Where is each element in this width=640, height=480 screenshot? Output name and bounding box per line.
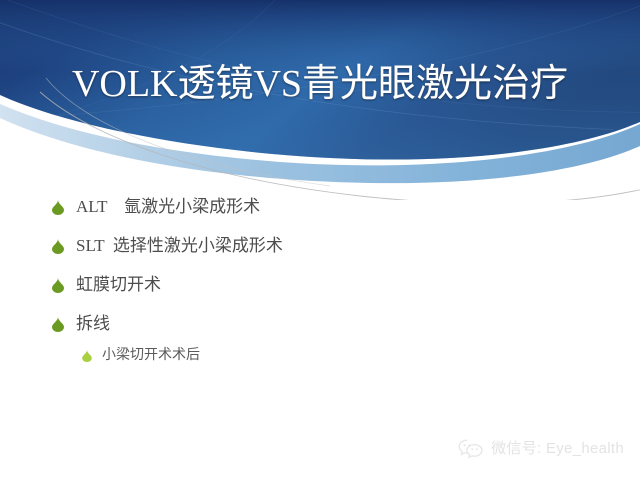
list-item-label: 虹膜切开术 bbox=[76, 274, 161, 296]
list-item-label: 小梁切开术术后 bbox=[102, 346, 200, 365]
page-title: VOLK透镜VS青光眼激光治疗 bbox=[72, 61, 568, 107]
list-item-label: ALT 氩激光小梁成形术 bbox=[76, 196, 260, 218]
list-item-label: SLT 选择性激光小梁成形术 bbox=[76, 235, 283, 257]
list-item[interactable]: SLT 选择性激光小梁成形术 bbox=[52, 235, 592, 257]
footer-watermark: 微信号: Eye_health bbox=[458, 438, 624, 460]
list-item[interactable]: 小梁切开术术后 bbox=[82, 346, 592, 365]
list-item[interactable]: 虹膜切开术 bbox=[52, 274, 592, 296]
green-droplet-bullet-icon bbox=[52, 200, 64, 215]
light-green-droplet-bullet-icon bbox=[82, 350, 92, 362]
title-container: VOLK透镜VS青光眼激光治疗 bbox=[0, 36, 640, 133]
green-droplet-bullet-icon bbox=[52, 278, 64, 293]
list-item-label: 拆线 bbox=[76, 313, 110, 335]
green-droplet-bullet-icon bbox=[52, 239, 64, 254]
wechat-icon bbox=[458, 438, 484, 460]
list-item[interactable]: 拆线 bbox=[52, 313, 592, 335]
bullet-list: ALT 氩激光小梁成形术 SLT 选择性激光小梁成形术 虹膜切开术 bbox=[52, 196, 592, 365]
green-droplet-bullet-icon bbox=[52, 317, 64, 332]
slide-canvas: VOLK透镜VS青光眼激光治疗 ALT 氩激光小梁成形术 SLT 选择性激光小梁… bbox=[0, 0, 640, 480]
list-item[interactable]: ALT 氩激光小梁成形术 bbox=[52, 196, 592, 218]
footer-label: 微信号: Eye_health bbox=[491, 440, 624, 458]
